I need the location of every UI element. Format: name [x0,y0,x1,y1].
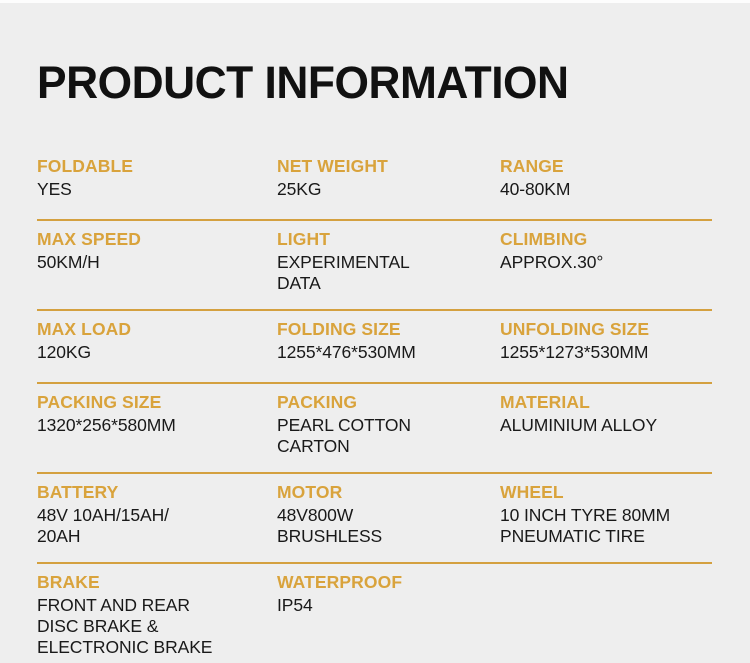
product-information-page: PRODUCT INFORMATION FOLDABLE YES NET WEI… [0,0,750,663]
spec-label: UNFOLDING SIZE [500,319,713,340]
spec-label: BATTERY [37,482,277,503]
spec-cell-motor: MOTOR 48V800W BRUSHLESS [277,482,500,547]
spec-value: 25KG [277,179,500,200]
spec-cell-material: MATERIAL ALUMINIUM ALLOY [500,392,713,436]
spec-row: FOLDABLE YES NET WEIGHT 25KG RANGE 40-80… [37,148,713,221]
spec-cell-unfolding-size: UNFOLDING SIZE 1255*1273*530MM [500,319,713,363]
spec-cell-folding-size: FOLDING SIZE 1255*476*530MM [277,319,500,363]
spec-row: BRAKE FRONT AND REAR DISC BRAKE & ELECTR… [37,564,713,654]
spec-row: MAX LOAD 120KG FOLDING SIZE 1255*476*530… [37,311,713,384]
spec-label: FOLDING SIZE [277,319,500,340]
spec-value: 48V800W BRUSHLESS [277,505,500,547]
page-title: PRODUCT INFORMATION [37,60,569,105]
spec-value: ALUMINIUM ALLOY [500,415,713,436]
spec-row: MAX SPEED 50KM/H LIGHT EXPERIMENTAL DATA… [37,221,713,311]
spec-cell-max-speed: MAX SPEED 50KM/H [37,229,277,273]
spec-value: 40-80KM [500,179,713,200]
spec-cell-max-load: MAX LOAD 120KG [37,319,277,363]
spec-label: NET WEIGHT [277,156,500,177]
spec-label: MATERIAL [500,392,713,413]
spec-value: EXPERIMENTAL DATA [277,252,500,294]
spec-cell-brake: BRAKE FRONT AND REAR DISC BRAKE & ELECTR… [37,572,277,658]
spec-cell-waterproof: WATERPROOF IP54 [277,572,500,616]
spec-sheet: PRODUCT INFORMATION FOLDABLE YES NET WEI… [37,0,713,663]
spec-value: 120KG [37,342,277,363]
spec-value: YES [37,179,277,200]
spec-label: PACKING SIZE [37,392,277,413]
spec-label: RANGE [500,156,713,177]
spec-label: WATERPROOF [277,572,500,593]
spec-value: PEARL COTTON CARTON [277,415,500,457]
spec-cell-packing-size: PACKING SIZE 1320*256*580MM [37,392,277,436]
spec-label: LIGHT [277,229,500,250]
spec-label: CLIMBING [500,229,713,250]
specification-table: FOLDABLE YES NET WEIGHT 25KG RANGE 40-80… [37,148,713,654]
spec-cell-climbing: CLIMBING APPROX.30° [500,229,713,273]
spec-cell-foldable: FOLDABLE YES [37,156,277,200]
spec-value: IP54 [277,595,500,616]
spec-cell-packing: PACKING PEARL COTTON CARTON [277,392,500,457]
spec-value: 48V 10AH/15AH/ 20AH [37,505,277,547]
spec-value: APPROX.30° [500,252,713,273]
spec-label: FOLDABLE [37,156,277,177]
spec-row: BATTERY 48V 10AH/15AH/ 20AH MOTOR 48V800… [37,474,713,564]
spec-value: 1255*476*530MM [277,342,500,363]
spec-row: PACKING SIZE 1320*256*580MM PACKING PEAR… [37,384,713,474]
spec-cell-net-weight: NET WEIGHT 25KG [277,156,500,200]
spec-label: MAX LOAD [37,319,277,340]
spec-label: MAX SPEED [37,229,277,250]
spec-label: WHEEL [500,482,713,503]
spec-value: 1255*1273*530MM [500,342,713,363]
spec-cell-range: RANGE 40-80KM [500,156,713,200]
spec-label: BRAKE [37,572,277,593]
spec-cell-wheel: WHEEL 10 INCH TYRE 80MM PNEUMATIC TIRE [500,482,713,547]
spec-cell-battery: BATTERY 48V 10AH/15AH/ 20AH [37,482,277,547]
spec-value: 1320*256*580MM [37,415,277,436]
spec-value: FRONT AND REAR DISC BRAKE & ELECTRONIC B… [37,595,277,659]
spec-label: PACKING [277,392,500,413]
spec-label: MOTOR [277,482,500,503]
spec-cell-light: LIGHT EXPERIMENTAL DATA [277,229,500,294]
spec-value: 10 INCH TYRE 80MM PNEUMATIC TIRE [500,505,713,547]
spec-value: 50KM/H [37,252,277,273]
